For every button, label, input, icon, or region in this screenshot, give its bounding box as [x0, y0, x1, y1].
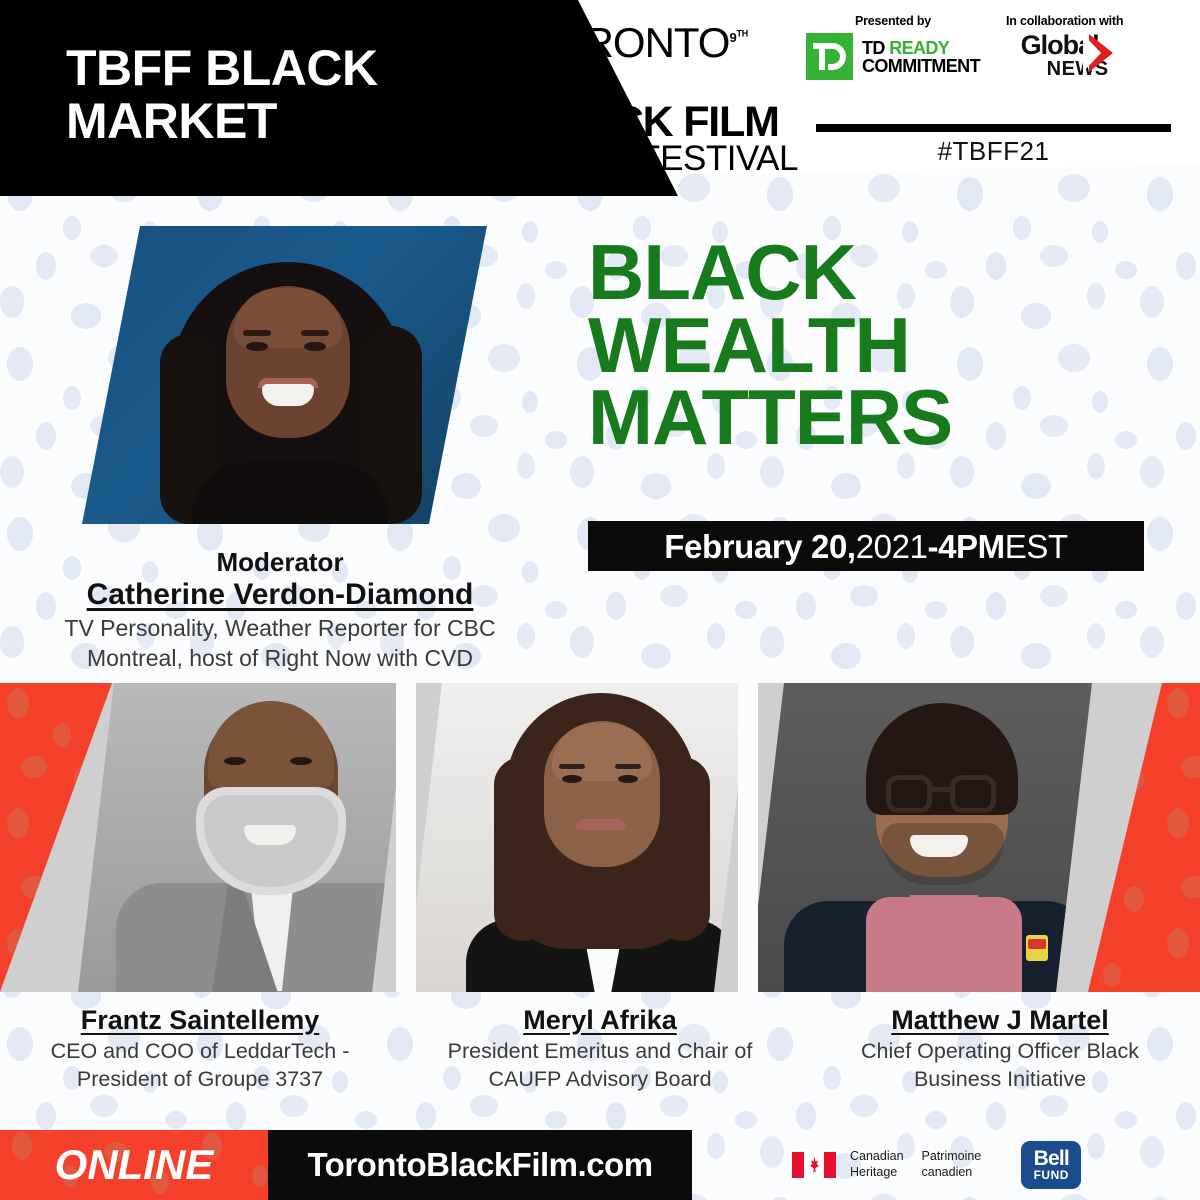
panelist-title: CEO and COO of LeddarTech - President of… — [18, 1038, 382, 1094]
canada-flag-icon — [792, 1152, 836, 1178]
panelist-photo-2 — [406, 683, 750, 992]
page-title-line2: WEALTH — [588, 309, 1168, 382]
online-badge: ONLINE — [0, 1130, 268, 1200]
moderator-caption: Moderator Catherine Verdon-Diamond TV Pe… — [20, 548, 540, 674]
panelist-photo-band — [0, 683, 1200, 992]
panelist-title: President Emeritus and Chair of CAUFP Ad… — [418, 1038, 782, 1094]
event-time: 4PM — [938, 530, 1005, 563]
td-shield-icon — [806, 33, 853, 80]
event-banner-line2: MARKET — [66, 95, 526, 148]
festival-edition-word: EDITION — [528, 71, 579, 86]
panelist-caption-3: Matthew J Martel Chief Operating Officer… — [800, 1004, 1200, 1094]
festival-logo-festival: FESTIVAL — [528, 141, 798, 176]
moderator-photo — [82, 226, 487, 524]
sponsor-row: Presented by TD READY COMMITMENT In coll… — [806, 14, 1176, 80]
footer: ONLINE TorontoBlackFilm.com Canadian Her… — [0, 1130, 1200, 1200]
panelist-name: Frantz Saintellemy — [18, 1004, 382, 1036]
td-text-green: READY — [889, 38, 949, 58]
collaboration-label: In collaboration with — [1006, 14, 1123, 28]
sponsor-divider-rule — [816, 124, 1171, 132]
event-date-bar: February 20, 2021 - 4PM EST — [588, 521, 1144, 571]
event-date-monthday: February 20, — [664, 530, 855, 563]
sponsor-td: Presented by TD READY COMMITMENT — [806, 14, 980, 80]
event-date-dash: - — [928, 530, 939, 563]
bell-fund-bell-text: Bell — [1034, 1149, 1069, 1169]
website-bar[interactable]: TorontoBlackFilm.com — [268, 1130, 692, 1200]
header: TBFF BLACK MARKET TORONTO9TH EDITION BLA… — [0, 0, 1200, 196]
festival-edition-number: 9 — [729, 30, 736, 45]
footer-partner-logos: Canadian Heritage Patrimoine canadien Be… — [700, 1130, 1200, 1200]
bell-fund-logo: Bell FUND — [1021, 1141, 1081, 1189]
photo-divider-1 — [396, 683, 416, 992]
festival-edition-suffix: TH — [737, 29, 749, 39]
online-badge-label: ONLINE — [55, 1141, 214, 1189]
page-title-line3: MATTERS — [588, 381, 1168, 454]
panelist-photo-1 — [78, 683, 408, 992]
canadian-heritage-fr-line1: Patrimoine — [922, 1149, 982, 1165]
panelist-name: Matthew J Martel — [818, 1004, 1182, 1036]
hashtag: #TBFF21 — [806, 136, 1181, 167]
panelist-captions: Frantz Saintellemy CEO and COO of Leddar… — [0, 1004, 1200, 1094]
bell-fund-fund-text: FUND — [1034, 1169, 1069, 1181]
global-news-logo: Global NEWS — [1021, 33, 1109, 79]
canadian-heritage-en-line2: Heritage — [850, 1165, 904, 1181]
page-title-line1: BLACK — [588, 236, 1168, 309]
panelist-caption-2: Meryl Afrika President Emeritus and Chai… — [400, 1004, 800, 1094]
td-text-dark: TD — [862, 38, 889, 58]
canadian-heritage-fr-line2: canadien — [922, 1165, 982, 1181]
event-banner: TBFF BLACK MARKET — [66, 42, 526, 148]
poster-root: TBFF BLACK MARKET TORONTO9TH EDITION BLA… — [0, 0, 1200, 1200]
presented-by-label: Presented by — [855, 14, 931, 28]
sponsor-strip: Presented by TD READY COMMITMENT In coll… — [806, 14, 1176, 80]
moderator-name: Catherine Verdon-Diamond — [20, 578, 540, 613]
sponsor-global-news: In collaboration with Global NEWS — [1006, 14, 1123, 79]
global-news-arrow-notch-icon — [1083, 34, 1101, 72]
panelist-caption-1: Frantz Saintellemy CEO and COO of Leddar… — [0, 1004, 400, 1094]
festival-logo: TORONTO9TH EDITION BLACK FILM FESTIVAL — [528, 22, 798, 176]
photo-divider-2 — [738, 683, 758, 992]
canadian-heritage-en-line1: Canadian — [850, 1149, 904, 1165]
festival-logo-blackfilm: BLACK FILM — [528, 102, 798, 143]
panelist-title: Chief Operating Officer Black Business I… — [818, 1038, 1182, 1094]
event-date-year: 2021 — [856, 530, 928, 563]
festival-logo-toronto: TORONTO9TH EDITION — [528, 22, 798, 104]
panelist-name: Meryl Afrika — [418, 1004, 782, 1036]
website-url[interactable]: TorontoBlackFilm.com — [307, 1146, 652, 1184]
moderator-description: TV Personality, Weather Reporter for CBC… — [20, 614, 540, 674]
event-banner-line1: TBFF BLACK — [66, 42, 526, 95]
td-ready-commitment-logo: TD READY COMMITMENT — [806, 33, 980, 80]
canadian-heritage-text: Canadian Heritage Patrimoine canadien — [850, 1149, 981, 1180]
page-title: BLACK WEALTH MATTERS — [588, 236, 1168, 454]
canadian-heritage-logo: Canadian Heritage Patrimoine canadien — [792, 1149, 981, 1180]
event-timezone: EST — [1005, 530, 1068, 563]
moderator-portrait-figure — [164, 256, 414, 524]
panelist-photo-3 — [748, 683, 1092, 992]
festival-logo-toronto-text: TORONTO — [528, 19, 729, 66]
moderator-role-label: Moderator — [20, 548, 540, 578]
td-logo-text: TD READY COMMITMENT — [862, 39, 980, 75]
td-text-commitment: COMMITMENT — [862, 57, 980, 75]
